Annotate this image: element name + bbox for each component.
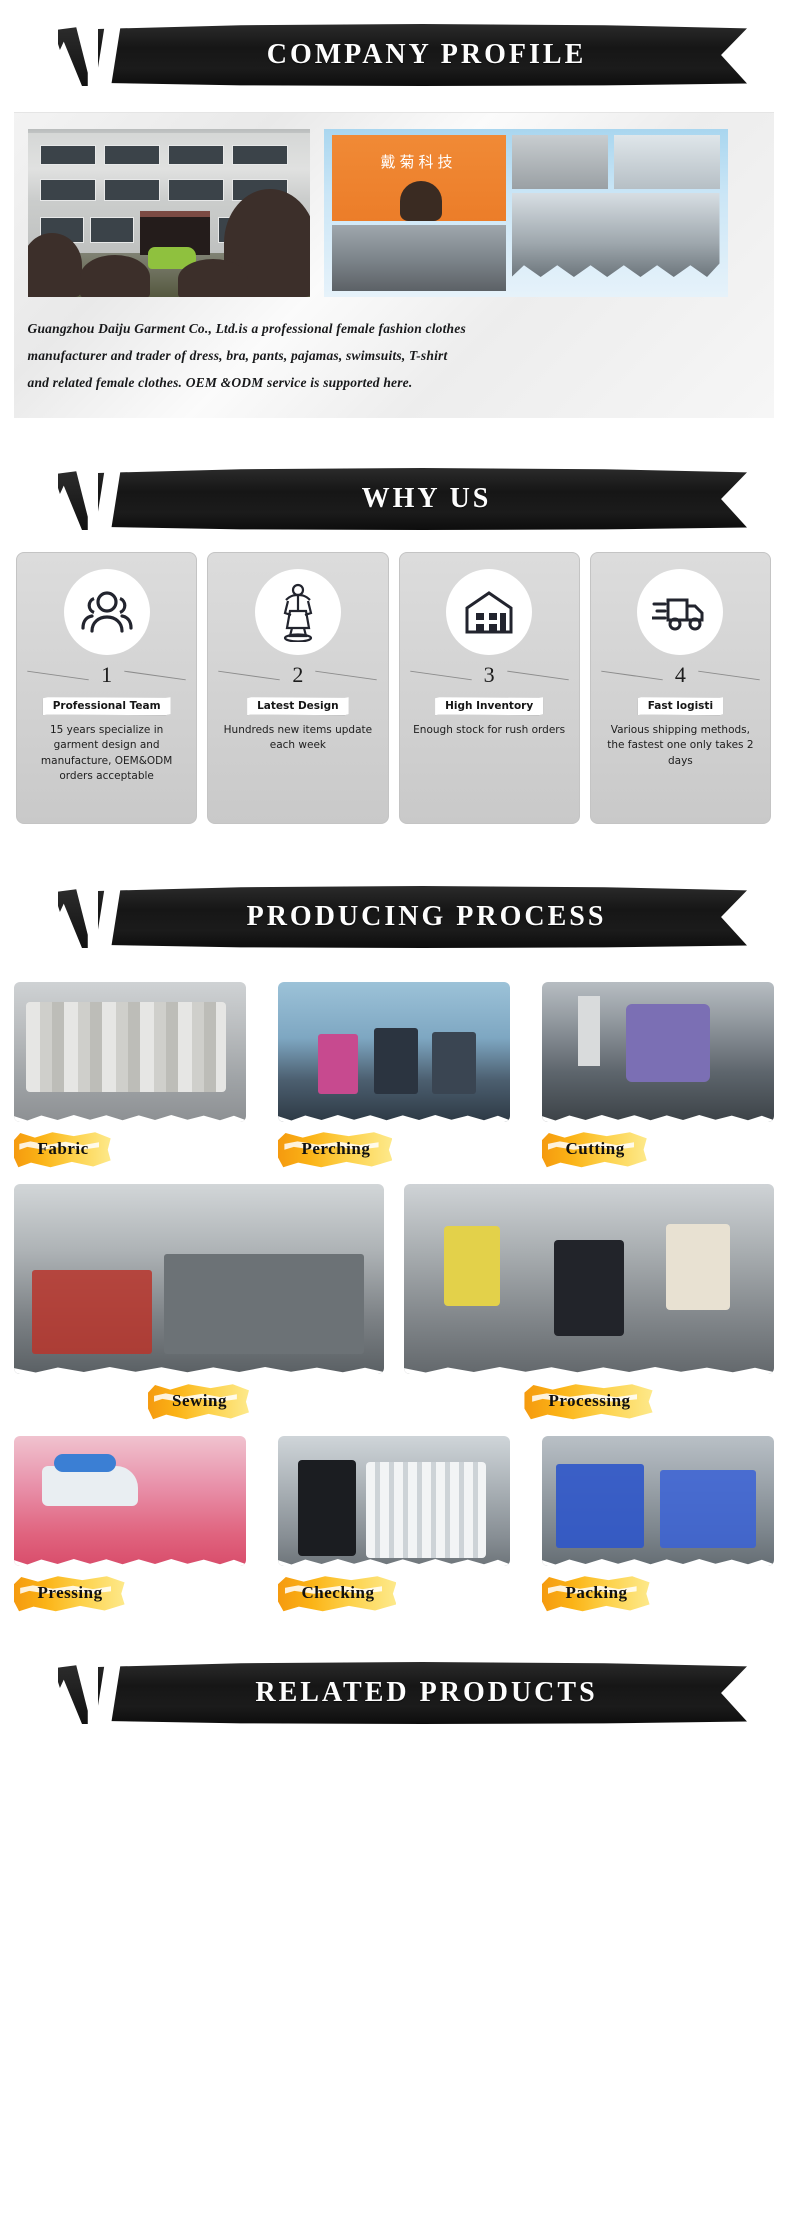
related-products-banner: RELATED PRODUCTS — [40, 1662, 747, 1724]
card-number: 3 — [408, 663, 571, 687]
tree-foliage — [80, 255, 150, 297]
building-window — [90, 217, 134, 243]
process-label-text: Fabric — [38, 1139, 89, 1159]
icon-badge — [255, 569, 341, 655]
icon-badge — [446, 569, 532, 655]
production-floor-photo-2 — [512, 193, 720, 277]
why-card-fast-logistics[interactable]: 4 Fast logisti Various shipping methods,… — [590, 552, 771, 824]
company-photos-row: 戴菊科技 — [28, 129, 760, 297]
packing-crates-storage-photo — [542, 1436, 774, 1566]
fabric-cutting-machine-photo — [542, 982, 774, 1122]
process-label-text: Perching — [302, 1139, 371, 1159]
people-group-icon — [80, 589, 134, 635]
company-description: Guangzhou Daiju Garment Co., Ltd.is a pr… — [28, 315, 760, 396]
building-window — [40, 145, 96, 165]
building-window — [232, 145, 288, 165]
process-label-sewing: Sewing — [148, 1382, 249, 1420]
company-description-line-2: manufacturer and trader of dress, bra, p… — [28, 342, 760, 369]
tree-foliage — [28, 233, 82, 297]
process-label-text: Pressing — [38, 1583, 103, 1603]
card-tag: Professional Team — [43, 697, 171, 715]
garment-racks-photo — [512, 135, 608, 189]
garment-quality-checking-photo — [278, 1436, 510, 1566]
building-window — [104, 179, 160, 201]
factory-building-photo — [28, 129, 310, 297]
card-tag: Latest Design — [247, 697, 349, 715]
process-row-2: Sewing Processing — [14, 1184, 774, 1420]
process-label-fabric: Fabric — [14, 1130, 111, 1168]
why-card-high-inventory[interactable]: 3 High Inventory Enough stock for rush o… — [399, 552, 580, 824]
company-chinese-name: 戴菊科技 — [332, 151, 506, 172]
process-label-text: Cutting — [566, 1139, 625, 1159]
why-us-section: WHY US 1 Professional Team 15 years spe — [0, 418, 787, 824]
card-number: 2 — [216, 663, 379, 687]
process-step-fabric[interactable]: Fabric — [14, 982, 246, 1168]
company-profile-title: COMPANY PROFILE — [110, 24, 743, 86]
related-products-title: RELATED PRODUCTS — [110, 1662, 743, 1724]
building-window — [40, 179, 96, 201]
process-label-text: Processing — [548, 1391, 630, 1411]
icon-badge — [637, 569, 723, 655]
process-label-cutting: Cutting — [542, 1130, 647, 1168]
card-description: 15 years specialize in garment design an… — [25, 723, 188, 784]
sewing-workshop-lines-photo — [14, 1184, 384, 1374]
producing-process-section: PRODUCING PROCESS Fabric — [0, 824, 787, 1612]
steam-iron-pressing-photo — [14, 1436, 246, 1566]
office-workspace-photo — [332, 225, 506, 291]
company-collage-photo: 戴菊科技 — [324, 129, 728, 297]
garment-processing-workers-photo — [404, 1184, 774, 1374]
card-number: 1 — [25, 663, 188, 687]
process-step-perching[interactable]: Perching — [278, 982, 510, 1168]
building-window — [168, 179, 224, 201]
company-profile-section: COMPANY PROFILE — [0, 0, 787, 418]
company-profile-content: 戴菊科技 Guangzhou Daiju Garment Co., Ltd.is… — [14, 112, 774, 418]
card-tag: Fast logisti — [638, 697, 723, 715]
why-card-latest-design[interactable]: 2 Latest Design Hundreds new items updat… — [207, 552, 388, 824]
process-step-pressing[interactable]: Pressing — [14, 1436, 246, 1612]
card-description: Hundreds new items update each week — [216, 723, 379, 753]
card-description: Various shipping methods, the fastest on… — [599, 723, 762, 769]
tree-foliage — [178, 259, 248, 297]
process-step-sewing[interactable]: Sewing — [14, 1184, 384, 1420]
process-row-1: Fabric Perching — [14, 982, 774, 1168]
company-description-line-3: and related female clothes. OEM &ODM ser… — [28, 369, 760, 396]
delivery-truck-icon — [652, 591, 708, 633]
receptionist-figure — [400, 181, 442, 221]
process-label-checking: Checking — [278, 1574, 397, 1612]
company-profile-banner: COMPANY PROFILE — [40, 24, 747, 86]
building-window — [104, 145, 160, 165]
card-description: Enough stock for rush orders — [411, 723, 567, 738]
fabric-perching-inspection-photo — [278, 982, 510, 1122]
process-step-packing[interactable]: Packing — [542, 1436, 774, 1612]
building-window — [168, 145, 224, 165]
page-root: COMPANY PROFILE — [0, 0, 787, 2222]
process-grid: Fabric Perching — [14, 982, 774, 1612]
process-row-3: Pressing Checking — [14, 1436, 774, 1612]
producing-process-banner: PRODUCING PROCESS — [40, 886, 747, 948]
reception-desk-photo: 戴菊科技 — [332, 135, 506, 221]
card-tag: High Inventory — [435, 697, 543, 715]
fabric-rolls-warehouse-photo — [14, 982, 246, 1122]
process-label-processing: Processing — [524, 1382, 652, 1420]
process-step-cutting[interactable]: Cutting — [542, 982, 774, 1168]
company-description-line-1: Guangzhou Daiju Garment Co., Ltd.is a pr… — [28, 315, 760, 342]
process-label-pressing: Pressing — [14, 1574, 125, 1612]
fashion-designer-icon — [276, 582, 320, 642]
process-label-perching: Perching — [278, 1130, 393, 1168]
why-us-title: WHY US — [110, 468, 743, 530]
process-step-checking[interactable]: Checking — [278, 1436, 510, 1612]
process-label-packing: Packing — [542, 1574, 650, 1612]
card-number: 4 — [599, 663, 762, 687]
icon-badge — [64, 569, 150, 655]
process-label-text: Packing — [566, 1583, 628, 1603]
process-step-processing[interactable]: Processing — [404, 1184, 774, 1420]
production-floor-photo-1 — [614, 135, 720, 189]
process-label-text: Sewing — [172, 1391, 227, 1411]
why-us-cards: 1 Professional Team 15 years specialize … — [16, 552, 771, 824]
related-products-section: RELATED PRODUCTS — [0, 1612, 787, 1724]
why-card-professional-team[interactable]: 1 Professional Team 15 years specialize … — [16, 552, 197, 824]
producing-process-title: PRODUCING PROCESS — [110, 886, 743, 948]
process-label-text: Checking — [302, 1583, 375, 1603]
warehouse-icon — [463, 588, 515, 636]
why-us-banner: WHY US — [40, 468, 747, 530]
